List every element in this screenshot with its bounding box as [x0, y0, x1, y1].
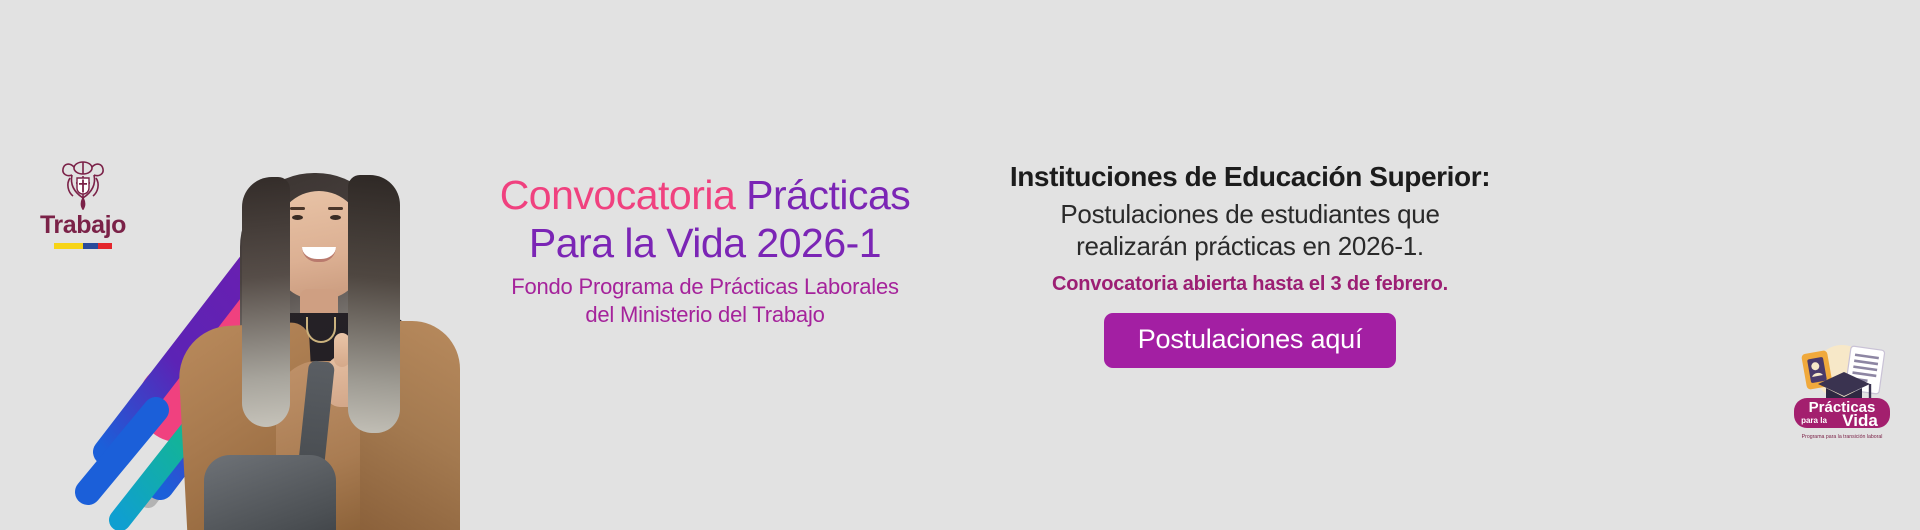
deadline-text: Convocatoria abierta hasta el 3 de febre… — [1000, 273, 1500, 296]
photo-eye-left — [292, 215, 303, 220]
program-logo-line-4: Vida — [1842, 411, 1878, 430]
photo-hair-front-left — [242, 177, 290, 427]
info-body: Postulaciones de estudiantes que realiza… — [1000, 198, 1500, 262]
photo-brow-right — [328, 207, 343, 210]
headline-convocatoria: Convocatoria — [500, 172, 746, 218]
flag-stripe-blue — [83, 243, 98, 249]
headline-subtitle-line-1: Fondo Programa de Prácticas Laborales — [470, 273, 940, 301]
headline-block: Convocatoria Prácticas Para la Vida 2026… — [470, 172, 940, 329]
headline-line-2: Para la Vida 2026-1 — [470, 220, 940, 268]
photo-eye-right — [330, 215, 341, 220]
program-logo-line-2: para la — [1801, 416, 1827, 425]
headline-line-1: Convocatoria Prácticas — [470, 172, 940, 220]
postulaciones-aqui-button[interactable]: Postulaciones aquí — [1104, 313, 1397, 369]
decorative-artwork — [60, 0, 460, 530]
flag-stripe-red — [98, 243, 113, 249]
headline-practicas: Prácticas — [746, 172, 910, 218]
photo-hair-front-right — [348, 175, 400, 433]
student-photo — [180, 165, 460, 530]
info-block: Instituciones de Educación Superior: Pos… — [1000, 160, 1500, 368]
photo-backpack — [204, 455, 336, 530]
info-body-line-2: realizarán prácticas en 2026-1. — [1000, 230, 1500, 262]
program-logo: Prácticas para la Vida Programa para la … — [1788, 338, 1896, 444]
program-logo-tagline: Programa para la transición laboral — [1802, 434, 1883, 440]
colombia-coat-of-arms-icon — [60, 158, 106, 210]
headline-subtitle: Fondo Programa de Prácticas Laborales de… — [470, 273, 940, 328]
photo-brow-left — [290, 207, 305, 210]
colombia-flag-icon — [54, 243, 112, 249]
info-title: Instituciones de Educación Superior: — [1000, 160, 1500, 194]
ministry-logo: Trabajo — [28, 158, 138, 249]
info-body-line-1: Postulaciones de estudiantes que — [1000, 198, 1500, 230]
flag-stripe-yellow — [54, 243, 83, 249]
practicas-para-la-vida-logo-icon: Prácticas para la Vida Programa para la … — [1788, 338, 1896, 444]
campaign-banner: Trabajo Convocatoria Prácticas Para la V… — [0, 0, 1920, 530]
ministry-label: Trabajo — [28, 212, 138, 238]
headline-subtitle-line-2: del Ministerio del Trabajo — [470, 301, 940, 329]
